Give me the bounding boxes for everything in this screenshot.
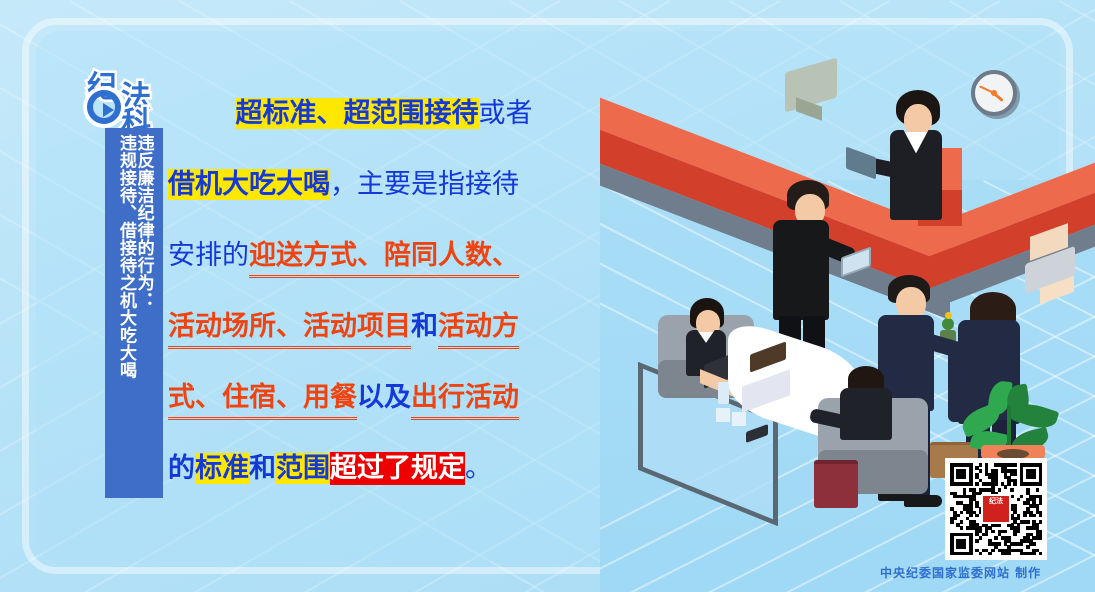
seated-man — [838, 366, 918, 446]
receptionist — [880, 90, 960, 230]
text-line-4: 活动场所、活动项目和活动方 — [168, 313, 600, 346]
play-triangle-icon — [87, 90, 121, 124]
text-segment: 安排的 — [168, 240, 249, 271]
text-segment: 和 — [411, 311, 438, 342]
text-segment: 超标准、超范围接待 — [236, 98, 479, 129]
text-segment: 范围 — [276, 453, 330, 484]
text-segment: 标准 — [195, 453, 249, 484]
qr-center-logo: 纪法 — [981, 494, 1011, 524]
text-line-2: 借机大吃大喝，主要是指接待 — [168, 171, 600, 204]
water-bottle — [718, 382, 729, 404]
text-segment: 或者 — [479, 98, 533, 129]
brand-logo: 纪 法 科 — [83, 62, 179, 134]
vertical-title-bar: 违反廉洁纪律的行为： 违规接待、借接待之机大吃大喝 — [105, 128, 163, 498]
text-segment: 出行活动 — [411, 382, 519, 420]
red-briefcase — [814, 460, 858, 508]
text-segment: 活动场所、活动项目 — [168, 311, 411, 349]
text-line-1: 超标准、超范围接待或者 — [168, 100, 600, 133]
text-segment: 借机大吃大喝 — [168, 169, 330, 200]
sidebar-column-left: 违规接待、借接待之机大吃大喝 — [116, 134, 134, 492]
qr-logo-text: 纪法 — [983, 496, 1009, 522]
main-text-block: 超标准、超范围接待或者借机大吃大喝，主要是指接待安排的迎送方式、陪同人数、活动场… — [168, 100, 600, 488]
text-segment: 和 — [249, 453, 276, 484]
text-segment: 以及 — [357, 382, 411, 413]
text-segment: 超过了规定 — [330, 452, 465, 485]
text-line-3: 安排的迎送方式、陪同人数、 — [168, 242, 600, 275]
text-line-6: 的标准和范围超过了规定。 — [168, 455, 600, 488]
footer-credit: 中央纪委国家监委网站 制作 — [880, 564, 1041, 581]
glass-cup — [732, 412, 746, 426]
text-segment: 式、住宿、用餐 — [168, 382, 357, 420]
text-line-5: 式、住宿、用餐以及出行活动 — [168, 384, 600, 417]
text-segment: 迎送方式、陪同人数、 — [249, 240, 519, 278]
text-segment: ，主要是指接待 — [330, 169, 519, 200]
sidebar-column-right: 违反廉洁纪律的行为： — [134, 134, 152, 492]
text-segment: 。 — [465, 453, 492, 484]
text-segment: 的 — [168, 453, 195, 484]
glass-cup — [716, 408, 730, 422]
text-segment: 活动方 — [438, 311, 519, 349]
qr-code[interactable]: 纪法 — [945, 458, 1047, 560]
poster-root: 纪法 纪 法 科 违反廉洁纪律的行为： 违规接待、借接待之机大吃大喝 超标准、超… — [0, 0, 1095, 592]
